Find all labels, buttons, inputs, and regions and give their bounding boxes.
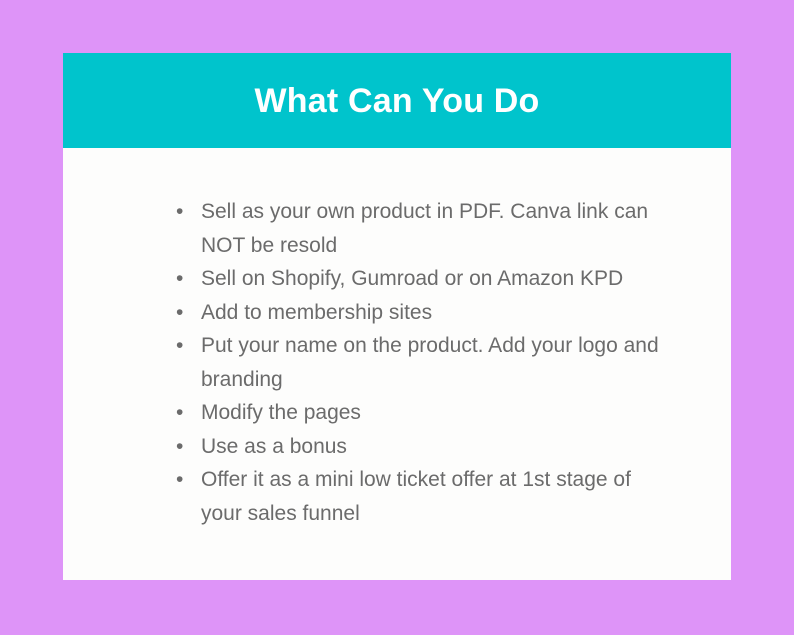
bullet-icon: • [176,396,201,430]
card-body: • Sell as your own product in PDF. Canva… [63,148,731,530]
list-item-label: Sell as your own product in PDF. Canva l… [201,195,661,262]
list-item-label: Add to membership sites [201,296,661,330]
list-item: • Sell on Shopify, Gumroad or on Amazon … [176,262,661,296]
bullet-icon: • [176,430,201,464]
bullet-icon: • [176,463,201,497]
bullet-icon: • [176,296,201,330]
list-item: • Sell as your own product in PDF. Canva… [176,195,661,262]
list-item: • Offer it as a mini low ticket offer at… [176,463,661,530]
bullet-icon: • [176,329,201,363]
list-item-label: Use as a bonus [201,430,661,464]
card-header-band: What Can You Do [63,53,731,148]
content-card: What Can You Do • Sell as your own produ… [63,53,731,580]
bullet-icon: • [176,262,201,296]
list-item-label: Put your name on the product. Add your l… [201,329,661,396]
bullet-icon: • [176,195,201,229]
list-item-label: Modify the pages [201,396,661,430]
list-item: • Modify the pages [176,396,661,430]
feature-list: • Sell as your own product in PDF. Canva… [176,195,691,530]
page-title: What Can You Do [254,84,539,118]
list-item-label: Sell on Shopify, Gumroad or on Amazon KP… [201,262,661,296]
list-item: • Add to membership sites [176,296,661,330]
list-item-label: Offer it as a mini low ticket offer at 1… [201,463,661,530]
list-item: • Put your name on the product. Add your… [176,329,661,396]
slide-canvas: What Can You Do • Sell as your own produ… [0,0,794,635]
list-item: • Use as a bonus [176,430,661,464]
